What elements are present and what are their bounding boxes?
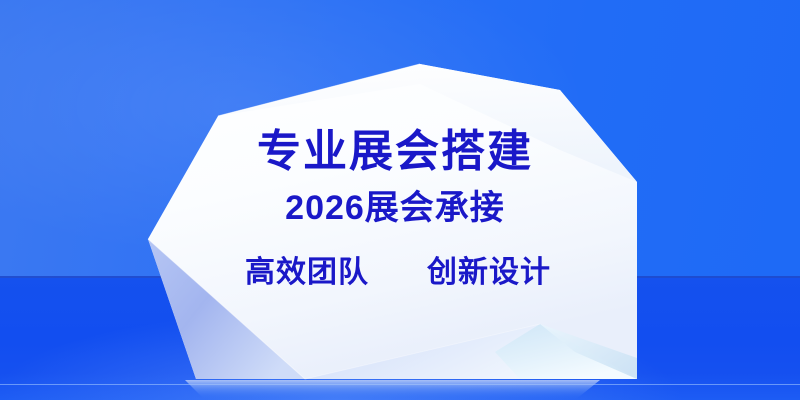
banner-headline: 专业展会搭建 xyxy=(150,128,640,176)
crystal-reflection xyxy=(185,380,600,400)
tagline-efficient-team: 高效团队 xyxy=(245,247,369,291)
banner-subline: 2026展会承接 xyxy=(150,190,640,227)
tagline-innovative-design: 创新设计 xyxy=(427,247,551,291)
banner-canvas: 专业展会搭建 2026展会承接 高效团队 创新设计 xyxy=(0,0,800,400)
banner-taglines: 高效团队 创新设计 xyxy=(150,247,640,291)
banner-copy: 专业展会搭建 2026展会承接 高效团队 创新设计 xyxy=(150,128,640,291)
